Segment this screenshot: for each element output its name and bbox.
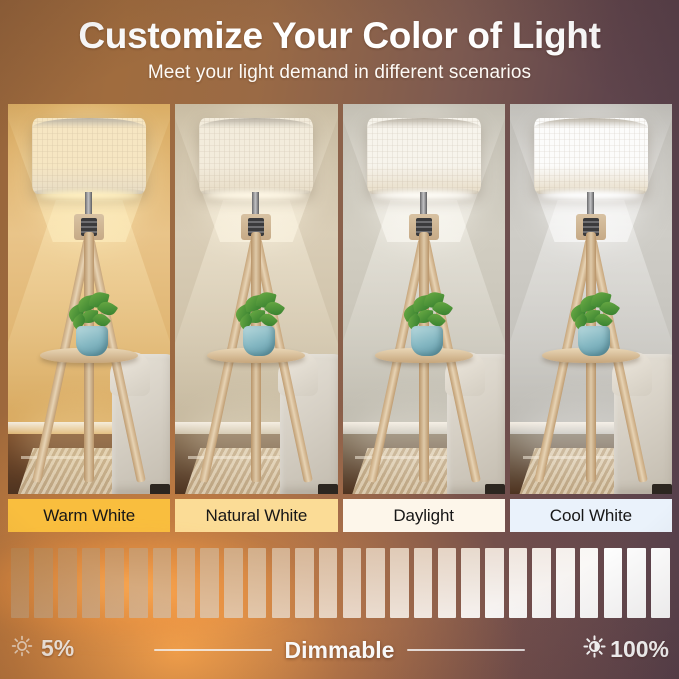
dimmer-step [390, 548, 409, 618]
header: Customize Your Color of Light Meet your … [0, 0, 679, 100]
dimmable-gradient-bar [8, 548, 672, 618]
dimmer-step [295, 548, 314, 618]
lamp-shade [367, 118, 481, 194]
dimmer-min-label: 5% [41, 635, 74, 662]
dimmer-step [604, 548, 623, 618]
dimmer-step [438, 548, 457, 618]
dimmer-step [248, 548, 267, 618]
tripod-floor-lamp-daylight [349, 104, 499, 494]
scene-panel-1 [8, 104, 170, 494]
lamp-shade [32, 118, 146, 194]
scene-panel-2 [175, 104, 337, 494]
dimmer-step [200, 548, 219, 618]
dimmer-step [580, 548, 599, 618]
shade-texture [534, 118, 648, 194]
dimmer-step [272, 548, 291, 618]
dimmer-footer: Dimmable 5% 100% [0, 628, 679, 672]
dimmer-step [129, 548, 148, 618]
product-infographic: Customize Your Color of Light Meet your … [0, 0, 679, 679]
dimmer-step [509, 548, 528, 618]
dimmer-step [532, 548, 551, 618]
dimmer-step [461, 548, 480, 618]
dimmable-label: Dimmable [285, 637, 395, 664]
dimmer-step [153, 548, 172, 618]
dimmer-min: 5% [10, 634, 74, 663]
tripod-floor-lamp-warm-white [14, 104, 164, 494]
dimmer-step [485, 548, 504, 618]
tripod-floor-lamp-cool-white [516, 104, 666, 494]
dimmable-caption: Dimmable [0, 634, 679, 666]
dimmer-step [414, 548, 433, 618]
dimmer-step [319, 548, 338, 618]
shade-texture [367, 118, 481, 194]
plant-pot [578, 326, 610, 356]
dimmer-step [627, 548, 646, 618]
plant-pot [243, 326, 275, 356]
color-label-1: Warm White [8, 499, 170, 532]
dimmer-step [224, 548, 243, 618]
color-label-4: Cool White [510, 499, 672, 532]
scene-panel-strip [8, 104, 672, 494]
tripod-floor-lamp-natural-white [181, 104, 331, 494]
dimmer-step [34, 548, 53, 618]
dimmer-max: 100% [582, 634, 669, 664]
rule-right [407, 649, 525, 651]
dimmer-step [366, 548, 385, 618]
page-title: Customize Your Color of Light [0, 15, 679, 57]
shade-texture [32, 118, 146, 194]
plant-pot [411, 326, 443, 356]
sun-dim-icon [10, 634, 34, 663]
plant-pot [76, 326, 108, 356]
dimmer-step [177, 548, 196, 618]
scene-panel-4 [510, 104, 672, 494]
dimmer-step [11, 548, 30, 618]
dimmer-step [82, 548, 101, 618]
dimmer-step [556, 548, 575, 618]
dimmer-step [105, 548, 124, 618]
dimmer-step [651, 548, 670, 618]
color-label-2: Natural White [175, 499, 337, 532]
rule-left [154, 649, 272, 651]
scene-panel-3 [343, 104, 505, 494]
lamp-shade [199, 118, 313, 194]
color-label-row: Warm WhiteNatural WhiteDaylightCool Whit… [8, 499, 672, 532]
shade-texture [199, 118, 313, 194]
dimmer-max-label: 100% [610, 636, 669, 663]
dimmer-step [58, 548, 77, 618]
page-subtitle: Meet your light demand in different scen… [0, 62, 679, 84]
lamp-shade [534, 118, 648, 194]
sun-bright-icon [582, 634, 607, 664]
dimmer-step [343, 548, 362, 618]
color-label-3: Daylight [343, 499, 505, 532]
